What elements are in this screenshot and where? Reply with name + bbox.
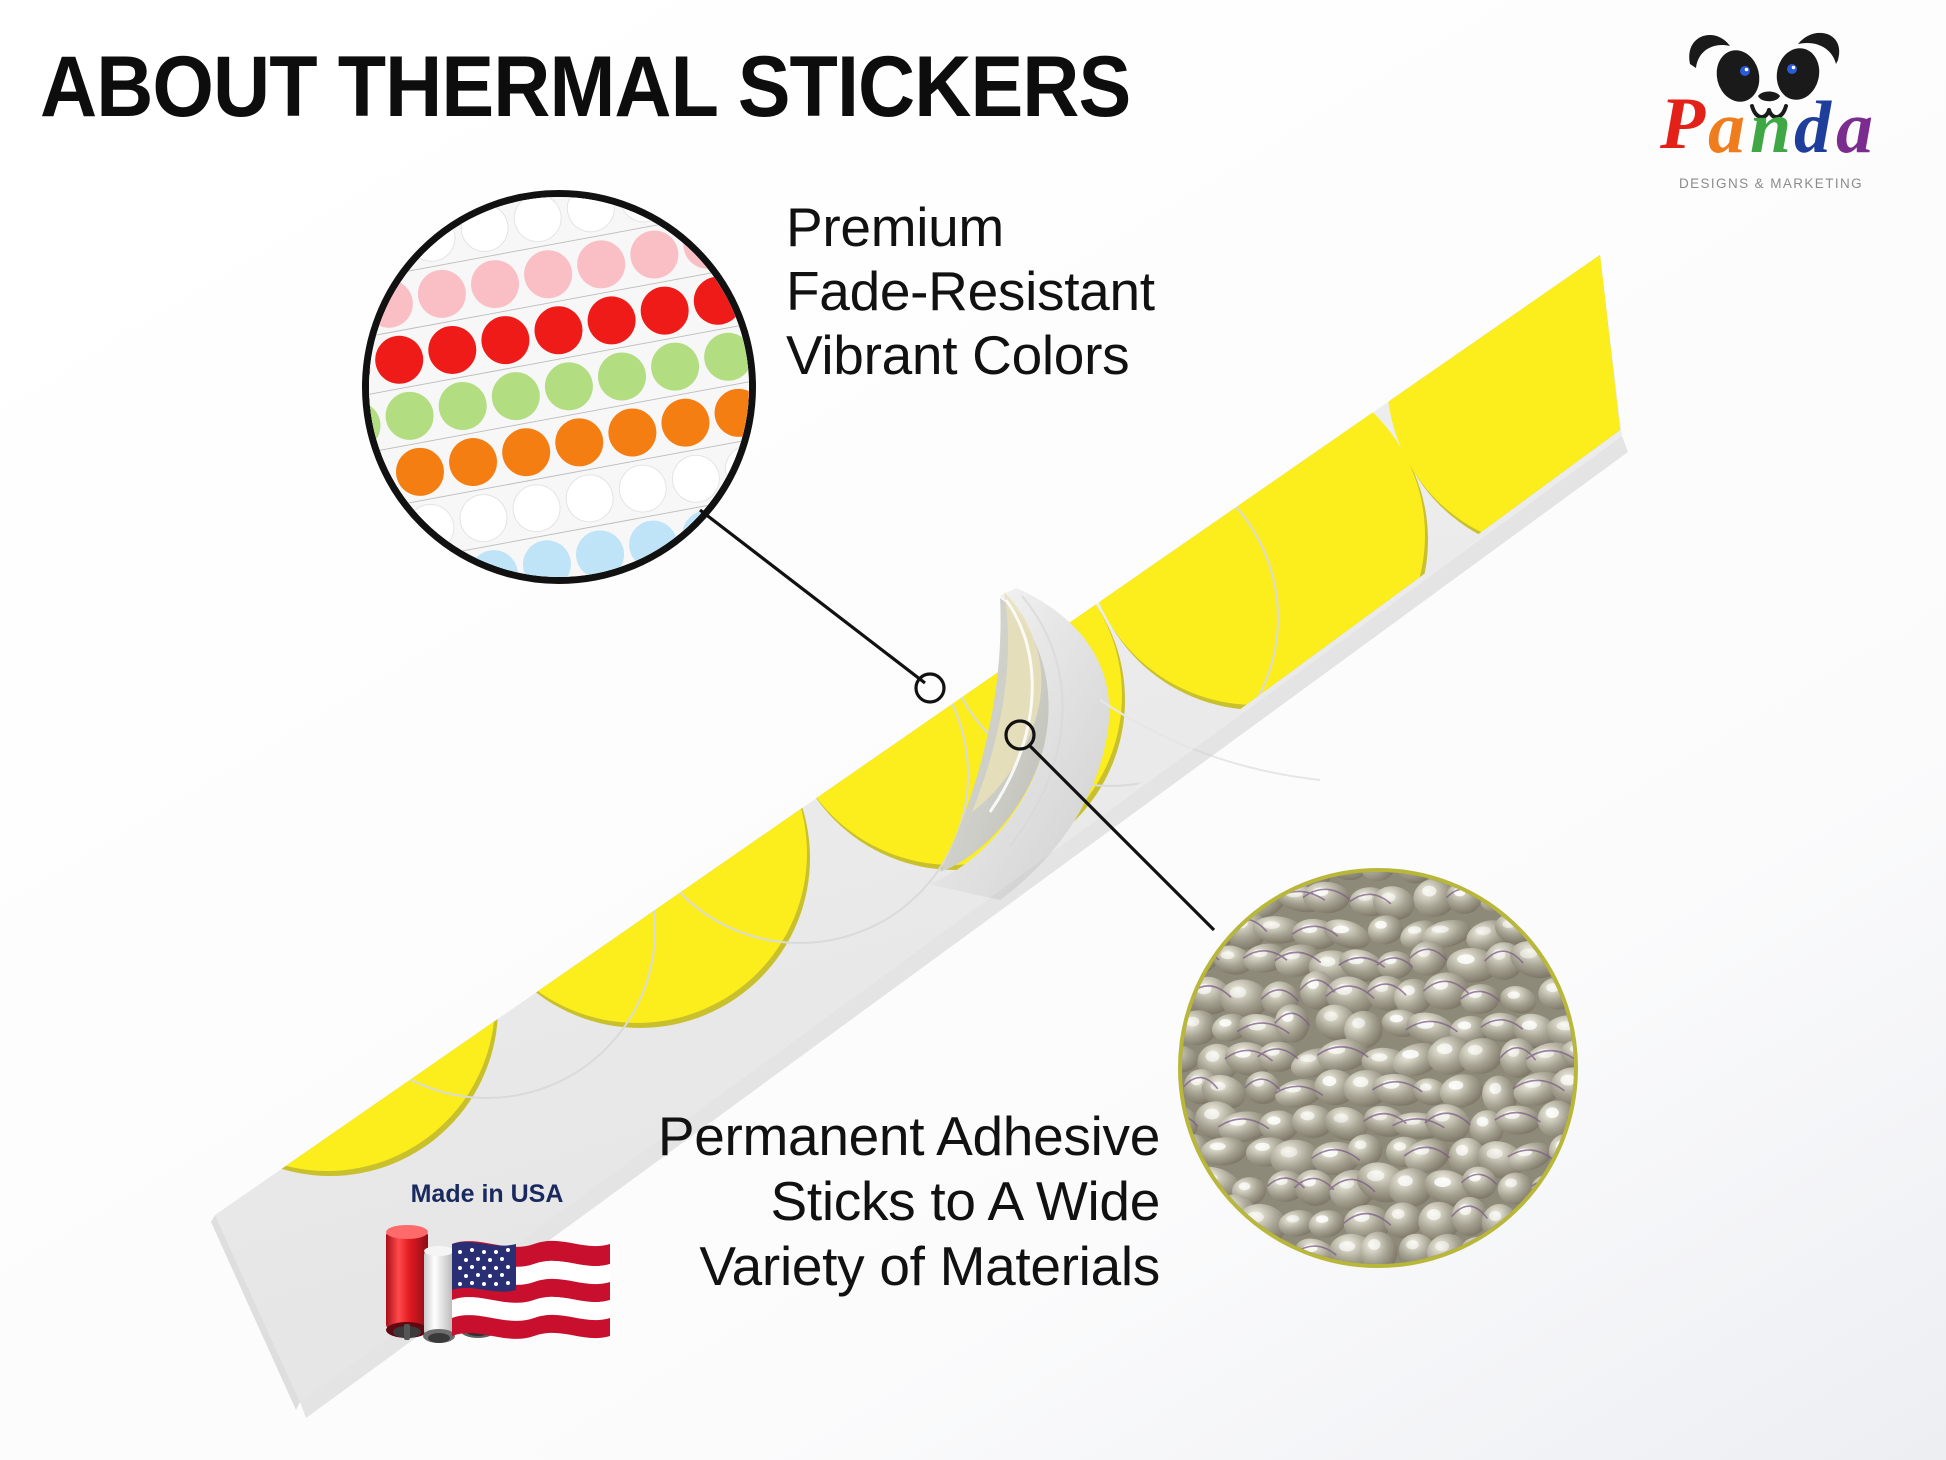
text-line: Premium [786, 196, 1155, 260]
poster-canvas: ABOUT THERMAL STICKERS P a n d a [0, 0, 1946, 1460]
made-in-usa-label: Made in USA [378, 1180, 596, 1209]
text-line: Fade-Resistant [786, 260, 1155, 324]
text-line: Sticks to A Wide [600, 1169, 1160, 1234]
usa-flag-ribbon-icon [378, 1212, 628, 1362]
leader-endpoint-adhesive [1006, 721, 1034, 749]
leader-endpoint-colors [916, 674, 944, 702]
text-line: Variety of Materials [600, 1234, 1160, 1299]
text-line: Vibrant Colors [786, 324, 1155, 388]
callout-text-colors: Premium Fade-Resistant Vibrant Colors [786, 196, 1155, 387]
callout-text-adhesive: Permanent Adhesive Sticks to A Wide Vari… [600, 1104, 1160, 1299]
text-line: Permanent Adhesive [600, 1104, 1160, 1169]
made-in-usa-badge: Made in USA [378, 1180, 628, 1370]
leader-line-colors [700, 510, 925, 683]
leader-line-adhesive [1030, 746, 1214, 930]
